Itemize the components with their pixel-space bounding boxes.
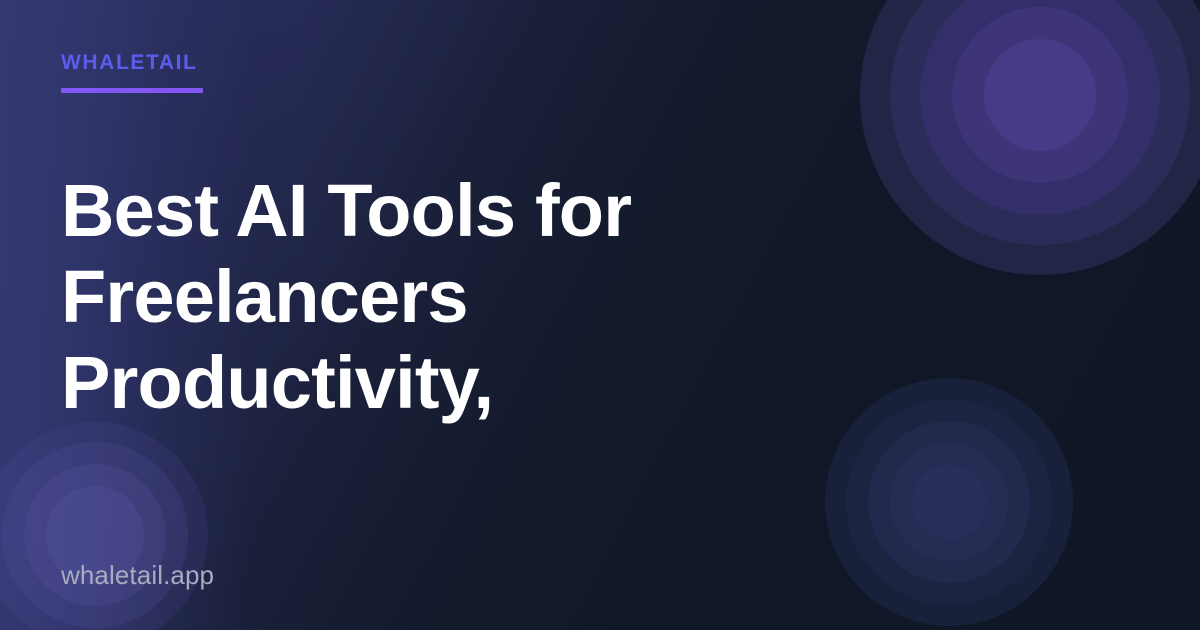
social-share-card: WHALETAIL Best AI Tools for Freelancers … (0, 0, 1200, 630)
brand-name: WHALETAIL (61, 52, 203, 73)
site-url: whaletail.app (61, 560, 214, 591)
card-content: WHALETAIL Best AI Tools for Freelancers … (0, 0, 1200, 630)
brand-lockup: WHALETAIL (61, 52, 203, 93)
brand-underline-rule (61, 88, 203, 93)
page-title: Best AI Tools for Freelancers Productivi… (61, 168, 751, 425)
